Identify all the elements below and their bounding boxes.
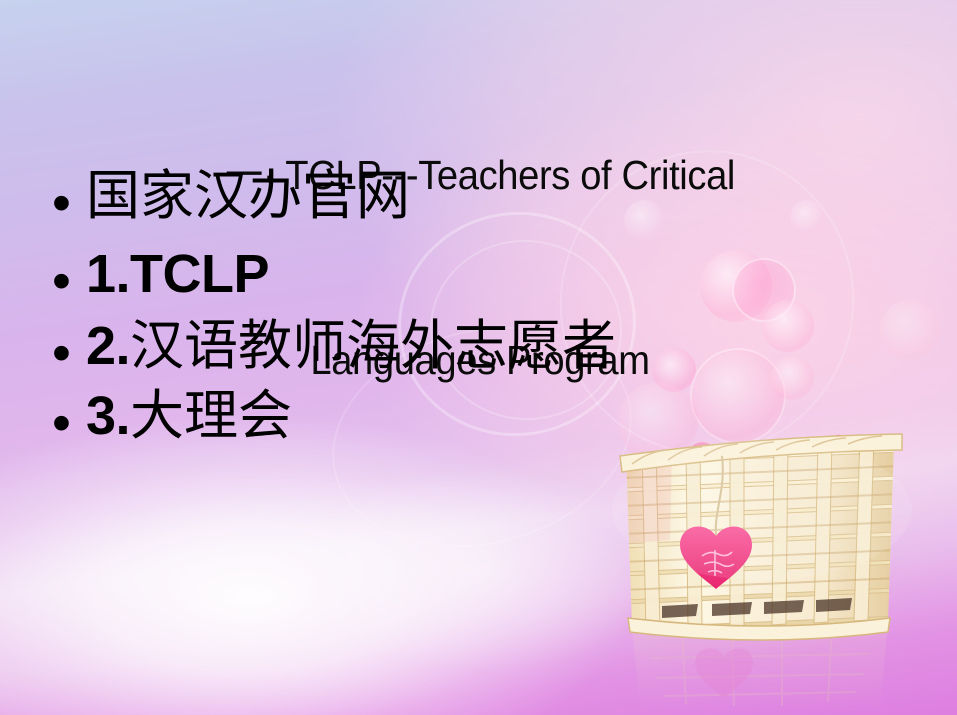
list-item-text: 国家汉办官网: [86, 168, 932, 224]
slide-canvas: 一· TCLP---Teachers of Critical Languages…: [0, 0, 957, 715]
list-item-text: 2.汉语教师海外志愿者: [86, 318, 932, 374]
list-item-text: 3.大理会: [86, 388, 932, 444]
list-item-text: 1.TCLP: [86, 246, 932, 302]
bullet-marker-icon: •: [52, 396, 86, 450]
list-item: • 1.TCLP: [52, 246, 932, 302]
list-item-prefix: 1.: [86, 244, 130, 304]
list-item-cjk: 国家汉办官网: [86, 164, 410, 227]
bullet-marker-icon: •: [52, 176, 86, 230]
bullet-marker-icon: •: [52, 254, 86, 308]
list-item-cjk: 汉语教师海外志愿者: [130, 314, 616, 377]
bullet-marker-icon: •: [52, 326, 86, 380]
list-item-prefix: 2.: [86, 316, 130, 376]
list-item: • 2.汉语教师海外志愿者: [52, 318, 932, 374]
basket-reflection: [632, 622, 888, 715]
list-item-prefix: 3.: [86, 386, 130, 446]
list-item-cjk: 大理会: [130, 384, 292, 447]
list-item-latin: TCLP: [130, 244, 269, 304]
list-item: • 国家汉办官网: [52, 168, 932, 224]
bullet-list: • 国家汉办官网 • 1.TCLP • 2.汉语教师海外志愿者 • 3.大理会: [52, 168, 932, 451]
heart-tag-script: [702, 550, 734, 576]
list-item: • 3.大理会: [52, 388, 932, 444]
